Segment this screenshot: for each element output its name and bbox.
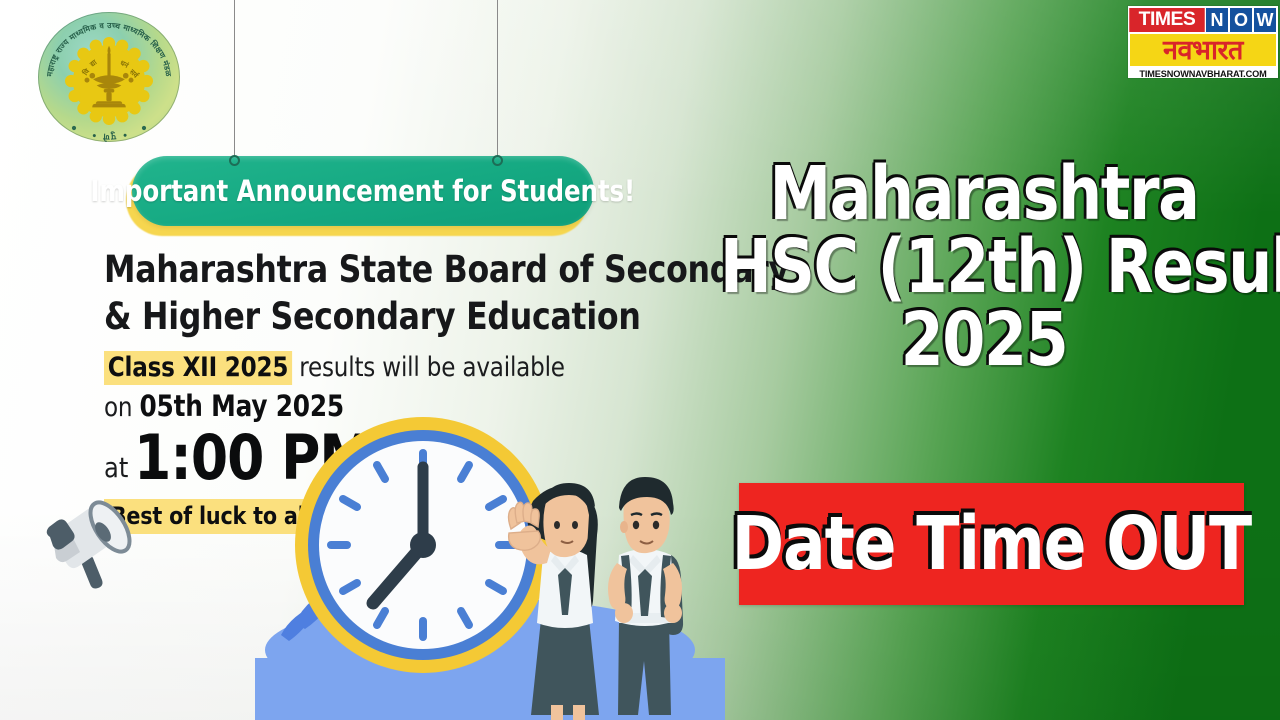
headline-line-2: HSC (12th) Result [720,231,1248,304]
maharashtra-board-seal-icon: महाराष्ट्र राज्य माध्यमिक व उच्च माध्यमि… [38,12,180,142]
logo-n-block: N [1206,8,1228,32]
time-prefix: at [104,451,128,489]
logo-website-url: TIMESNOWNAVBHARAT.COM [1139,69,1266,79]
seal-inner-disc: वि द्या धनं सर्व [65,37,153,118]
announcement-banner-label: Important Announcement for Students! [91,174,636,208]
svg-text:• पुणे •: • पुणे • [89,129,128,142]
headline-block: Maharashtra HSC (12th) Result 2025 [700,158,1268,377]
clock-and-students-illustration [255,405,725,720]
logo-hindi-text: नवभारत [1163,37,1243,64]
logo-row-url: TIMESNOWNAVBHARAT.COM [1128,68,1278,80]
eyelet-left-icon [229,155,240,166]
times-now-navbharat-logo[interactable]: TIMES N O W नवभारत TIMESNOWNAVBHARAT.COM [1128,6,1278,78]
headline-line-3: 2025 [720,304,1248,377]
class-highlight: Class XII 2025 [104,351,292,385]
poster-canvas: महाराष्ट्र राज्य माध्यमिक व उच्च माध्यमि… [0,0,1280,720]
announcement-banner: Important Announcement for Students! [132,156,598,232]
megaphone-icon [24,485,142,595]
date-prefix: on [104,392,132,423]
logo-times-block: TIMES [1129,8,1204,32]
headline-line-1: Maharashtra [720,158,1248,231]
logo-w-block: W [1254,8,1276,32]
clock-center-pin [410,532,436,558]
hanging-string-left [234,0,235,160]
board-name-line-1: Maharashtra State Board of Secondary [104,246,636,293]
logo-o-block: O [1230,8,1252,32]
result-availability-line: Class XII 2025 results will be available [104,349,636,387]
eyelet-right-icon [492,155,503,166]
result-availability-text: results will be available [299,352,565,383]
seal-sunburst: वि द्या धनं सर्व [65,37,153,125]
logo-row-hindi: नवभारत [1130,34,1276,66]
announcement-banner-body: Important Announcement for Students! [132,156,594,226]
status-badge: Date Time OUT [739,483,1244,605]
logo-row-timesnow: TIMES N O W [1128,6,1278,32]
hanging-string-right [497,0,498,160]
board-name-line-2: & Higher Secondary Education [104,293,636,340]
status-badge-label: Date Time OUT [732,507,1251,581]
